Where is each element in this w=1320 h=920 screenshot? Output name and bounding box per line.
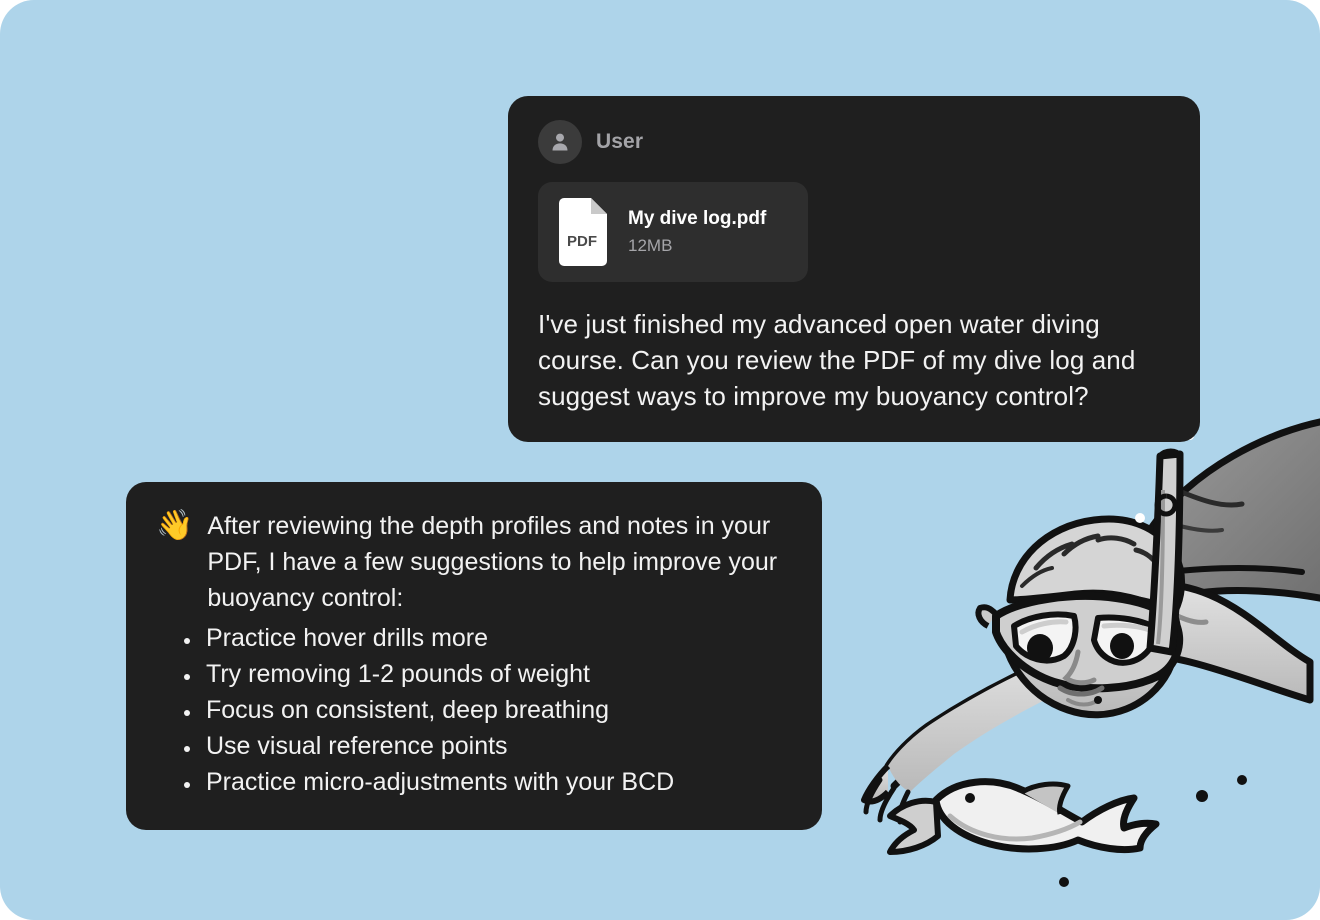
svg-text:PDF: PDF bbox=[567, 233, 597, 250]
snorkel-tube bbox=[1150, 452, 1180, 653]
user-message-text: I've just finished my advanced open wate… bbox=[538, 306, 1170, 414]
list-item: Focus on consistent, deep breathing bbox=[202, 692, 792, 728]
assistant-intro-row: 👋 After reviewing the depth profiles and… bbox=[156, 508, 792, 616]
diver-head bbox=[978, 519, 1181, 715]
snorkeler-diver-illustration bbox=[850, 400, 1320, 920]
user-message-bubble: User PDF My dive log.pdf 12MB I've just … bbox=[508, 96, 1200, 442]
diver-torso bbox=[1080, 584, 1310, 700]
user-header: User bbox=[538, 120, 1170, 164]
attachment-file-size: 12MB bbox=[628, 236, 766, 256]
suggestions-list: Practice hover drills moreTry removing 1… bbox=[156, 620, 792, 800]
list-item: Try removing 1-2 pounds of weight bbox=[202, 656, 792, 692]
list-item: Use visual reference points bbox=[202, 728, 792, 764]
app-canvas: User PDF My dive log.pdf 12MB I've just … bbox=[0, 0, 1320, 920]
pdf-file-icon: PDF bbox=[556, 198, 610, 266]
assistant-message-bubble: 👋 After reviewing the depth profiles and… bbox=[126, 482, 822, 830]
list-item: Practice micro-adjustments with your BCD bbox=[202, 764, 792, 800]
list-item: Practice hover drills more bbox=[202, 620, 792, 656]
diver-left-arm bbox=[864, 648, 1088, 822]
fish bbox=[890, 782, 1156, 852]
wetsuit-arm bbox=[1149, 420, 1320, 600]
attachment-file-name: My dive log.pdf bbox=[628, 208, 766, 230]
pdf-attachment-card[interactable]: PDF My dive log.pdf 12MB bbox=[538, 182, 808, 282]
sender-label: User bbox=[596, 130, 643, 154]
waving-hand-emoji: 👋 bbox=[156, 508, 193, 616]
assistant-intro-text: After reviewing the depth profiles and n… bbox=[207, 508, 792, 616]
person-avatar-icon bbox=[538, 120, 582, 164]
attachment-meta: My dive log.pdf 12MB bbox=[628, 208, 766, 256]
air-bubbles bbox=[1059, 405, 1247, 887]
